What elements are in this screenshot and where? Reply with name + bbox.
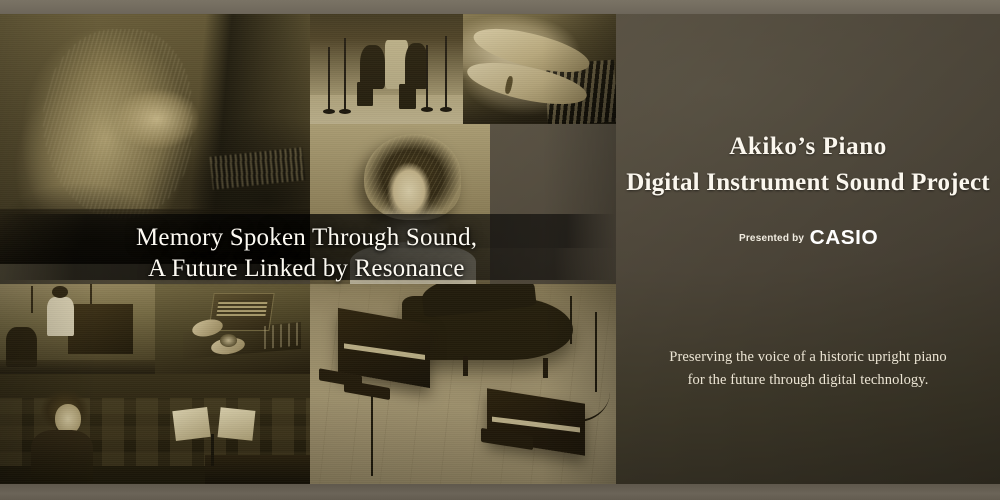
photo-hands-on-keys [463,14,616,124]
presented-by-label: Presented by [739,233,804,244]
tagline-line-1: Preserving the voice of a historic uprig… [616,346,1000,369]
title-line-1: Akiko’s Piano [616,132,1000,162]
title-line-2: Digital Instrument Sound Project [616,168,1000,198]
photo-young-musician [310,124,490,284]
tagline: Preserving the voice of a historic uprig… [616,346,1000,392]
photo-pianist-in-hall [0,374,310,484]
photo-mixing-console [155,284,310,374]
bottom-band [0,484,1000,500]
photo-elderly-pianist [0,14,310,264]
photo-recording-setup [0,284,155,374]
text-panel: Akiko’s Piano Digital Instrument Sound P… [616,14,1000,484]
casio-logo: CASIO [810,227,878,250]
top-band [0,0,1000,14]
photo-stage-performers [310,14,463,124]
presented-by-block: Presented by CASIO [616,227,1000,250]
photo-concert-stage-pianos [310,284,616,484]
banner: Memory Spoken Through Sound, A Future Li… [0,0,1000,500]
tagline-line-2: for the future through digital technolog… [616,369,1000,392]
photo-collage [0,14,616,484]
title-block: Akiko’s Piano Digital Instrument Sound P… [616,132,1000,198]
